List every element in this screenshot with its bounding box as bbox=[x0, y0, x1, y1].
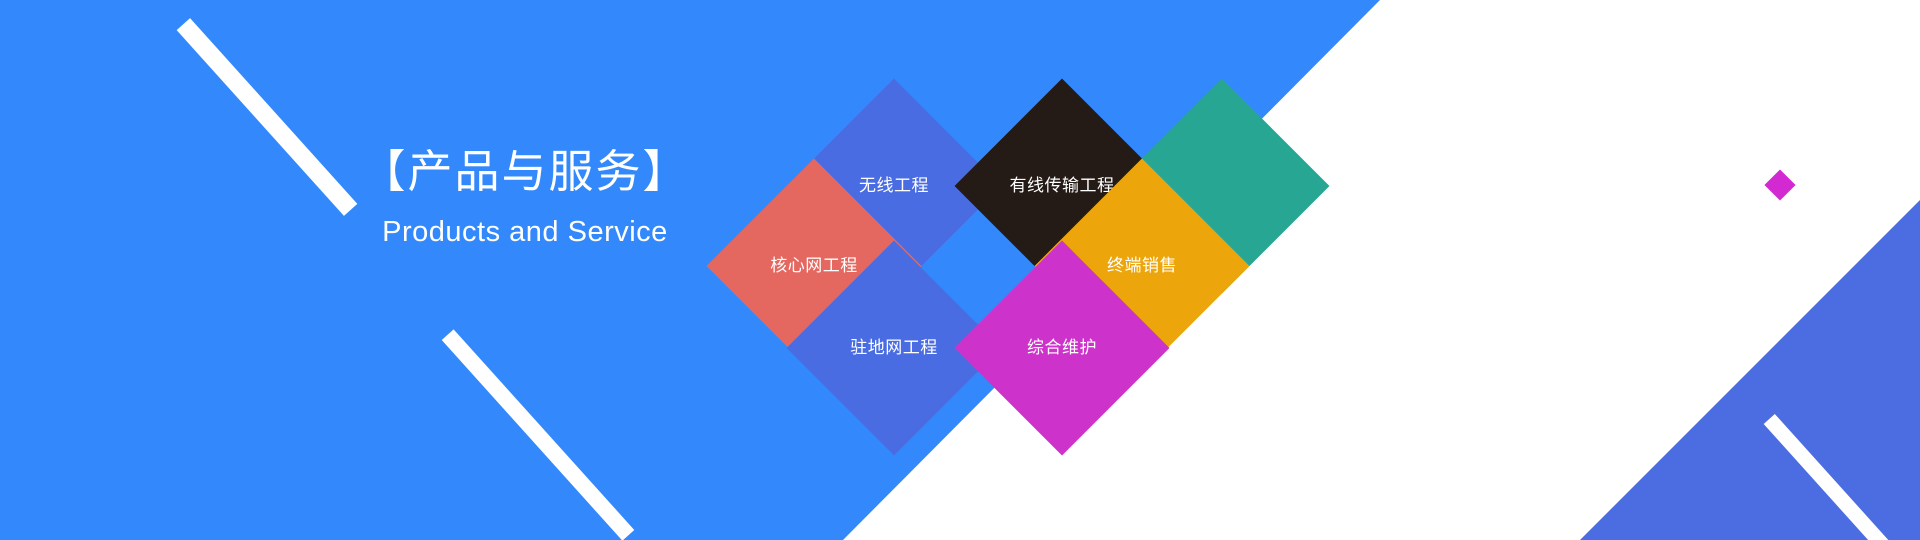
page-title-en: Products and Service bbox=[360, 215, 690, 249]
products-and-service-banner: 【产品与服务】 Products and Service 无线工程 核心网工程 … bbox=[0, 0, 1920, 540]
page-title-cn: 【产品与服务】 bbox=[360, 143, 690, 201]
headline-block: 【产品与服务】 Products and Service bbox=[360, 143, 690, 249]
service-diamond-label: 有线传输工程 bbox=[1010, 176, 1115, 196]
service-diamond-label: 终端销售 bbox=[1107, 256, 1177, 276]
corner-wedge-decoration bbox=[1580, 200, 1920, 540]
service-diamond-label: 综合维护 bbox=[1027, 338, 1097, 358]
service-diamond-label: 核心网工程 bbox=[770, 256, 858, 276]
service-diamond-label: 无线工程 bbox=[859, 176, 929, 196]
service-diamond-label: 驻地网工程 bbox=[850, 338, 938, 358]
blue-background-panel bbox=[0, 0, 1920, 540]
accent-diamond-icon bbox=[1764, 169, 1795, 200]
